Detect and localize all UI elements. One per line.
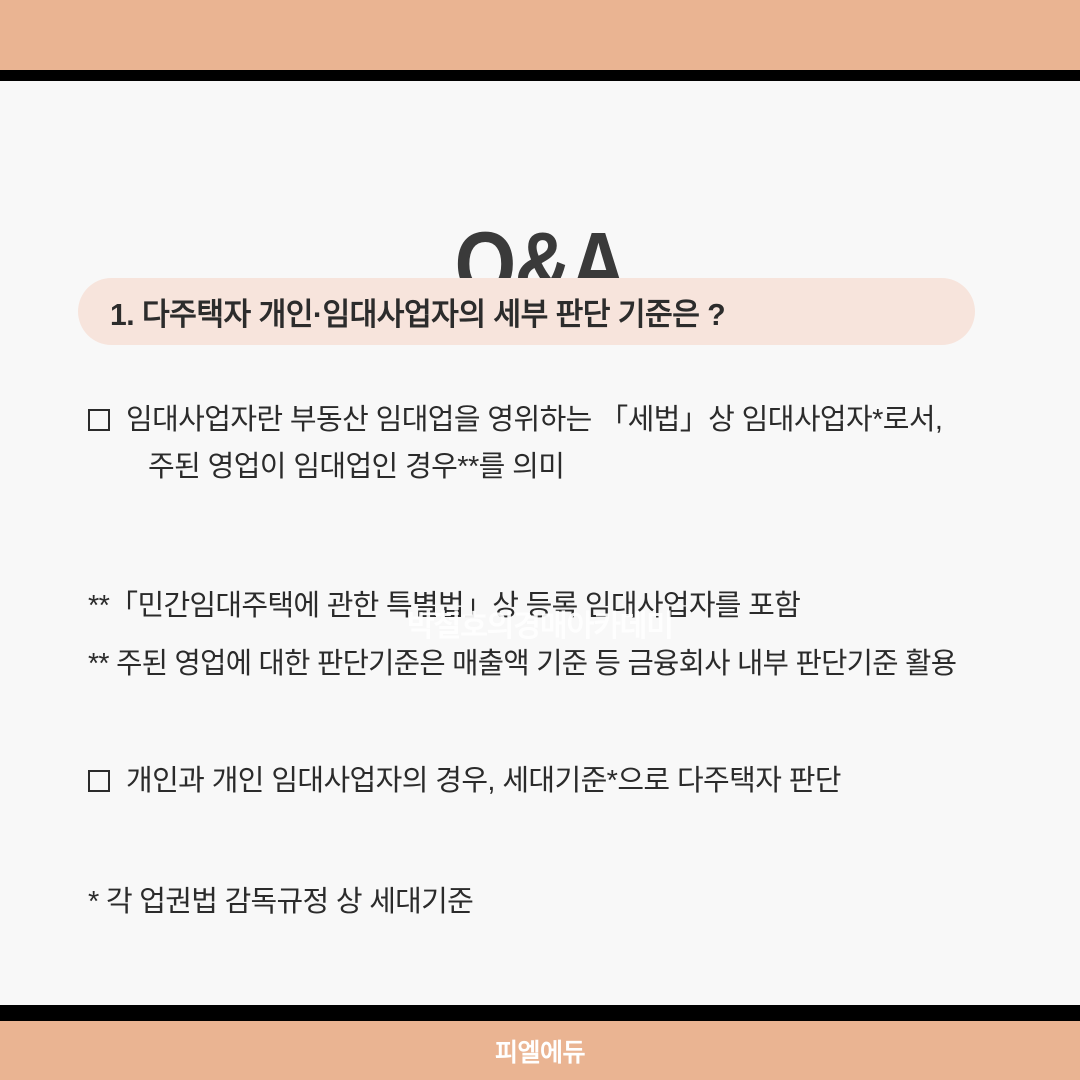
- top-accent-band: [0, 0, 1080, 70]
- top-divider-rule: [0, 70, 1080, 81]
- footnote-1: **「민간임대주택에 관한 특별법」상 등록 임대사업자를 포함: [88, 583, 1060, 629]
- footer-band: 피엘에듀: [0, 1021, 1080, 1080]
- square-bullet-icon: [88, 770, 110, 792]
- question-banner: 1. 다주택자 개인·임대사업자의 세부 판단 기준은 ?: [78, 278, 975, 345]
- footnote-2: ** 주된 영업에 대한 판단기준은 매출액 기준 등 금융회사 내부 판단기준…: [88, 641, 1045, 687]
- paragraph-2-line-1: 개인과 개인 임대사업자의 경우, 세대기준*으로 다주택자 판단: [126, 765, 841, 797]
- footer-brand-label: 피엘에듀: [495, 1033, 585, 1069]
- slide-card: Q&A 1. 다주택자 개인·임대사업자의 세부 판단 기준은 ? 임대사업자란…: [0, 0, 1080, 1080]
- slide-content: Q&A 1. 다주택자 개인·임대사업자의 세부 판단 기준은 ? 임대사업자란…: [0, 81, 1080, 1005]
- question-text: 1. 다주택자 개인·임대사업자의 세부 판단 기준은 ?: [110, 289, 725, 334]
- bottom-divider-rule: [0, 1005, 1080, 1021]
- paragraph-2-body: 개인과 개인 임대사업자의 경우, 세대기준*으로 다주택자 판단: [126, 758, 1060, 805]
- paragraph-1: 임대사업자란 부동산 임대업을 영위하는 「세법」상 임대사업자*로서, 주된 …: [88, 397, 1060, 491]
- paragraph-1-line-2: 주된 영업이 임대업인 경우**를 의미: [126, 451, 564, 483]
- paragraph-1-body: 임대사업자란 부동산 임대업을 영위하는 「세법」상 임대사업자*로서, 주된 …: [126, 397, 1060, 491]
- footnote-3: * 각 업권법 감독규정 상 세대기준: [88, 879, 1060, 925]
- square-bullet-icon: [88, 409, 110, 431]
- paragraph-2: 개인과 개인 임대사업자의 경우, 세대기준*으로 다주택자 판단: [88, 758, 1060, 805]
- body-block: 임대사업자란 부동산 임대업을 영위하는 「세법」상 임대사업자*로서, 주된 …: [88, 397, 1060, 925]
- paragraph-1-line-1: 임대사업자란 부동산 임대업을 영위하는 「세법」상 임대사업자*로서,: [126, 404, 942, 436]
